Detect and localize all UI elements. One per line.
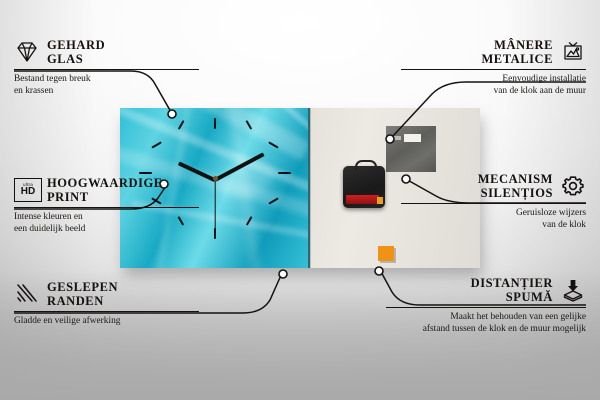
feature-rule <box>401 203 586 204</box>
hanger-plate <box>386 126 436 172</box>
hanger-slot <box>404 134 421 142</box>
feature-subtitle: Eenvoudige installatie van de klok aan d… <box>401 73 586 97</box>
feature-subtitle-line2: en krassen <box>14 86 53 96</box>
feature-subtitle-line1: Intense kleuren en <box>14 212 83 222</box>
feature-subtitle-line2: een duidelijk beeld <box>14 224 85 234</box>
feature-header: ultra HD HOOGWAARDIGE PRINT <box>14 176 199 204</box>
feature-subtitle: Bestand tegen breuk en krassen <box>14 73 199 97</box>
clock-mechanism <box>343 166 385 208</box>
feature-title-line1: DISTANȚIER <box>471 276 553 290</box>
diamond-icon <box>14 40 40 64</box>
feature-subtitle: Maakt het behouden van een gelijke afsta… <box>386 311 586 335</box>
feature-subtitle-line1: Geruisloze wijzers <box>516 208 586 218</box>
battery <box>346 195 379 204</box>
ultra-hd-icon-large-text: HD <box>21 187 35 197</box>
bevelled-edges-icon <box>14 282 40 306</box>
clock-tick <box>139 172 152 174</box>
feature-header: MECANISM SILENȚIOS <box>401 172 586 200</box>
feature-subtitle-line1: Gladde en veilige afwerking <box>14 316 120 326</box>
feature-subtitle: Geruisloze wijzers van de klok <box>401 207 586 231</box>
feature-header: GESLEPEN RANDEN <box>14 280 199 308</box>
feature-title-line2: SPUMĂ <box>506 290 553 304</box>
hanger-slot-secondary <box>392 136 401 140</box>
feature-rule <box>14 207 199 208</box>
feature-subtitle-line2: van de klok aan de muur <box>494 86 586 96</box>
feature-title-line1: MÂNERE <box>494 38 553 52</box>
feature-title-line2: GLAS <box>47 52 83 66</box>
feature-subtitle: Intense kleuren en een duidelijk beeld <box>14 211 199 235</box>
feature-title-line2: SILENȚIOS <box>481 186 553 200</box>
feature-title: MÂNERE METALICE <box>481 38 553 66</box>
feature-title: DISTANȚIER SPUMĂ <box>471 276 553 304</box>
feature-title-line1: GESLEPEN <box>47 280 118 294</box>
feature-title-line1: GEHARD <box>47 38 105 52</box>
clock-tick <box>151 141 161 148</box>
framed-picture-icon <box>560 40 586 64</box>
feature-title-line1: HOOGWAARDIGE <box>47 176 163 190</box>
feature-subtitle-line2: van de klok <box>542 220 586 230</box>
feature-rule <box>14 311 199 312</box>
feature-subtitle: Gladde en veilige afwerking <box>14 315 199 327</box>
feature-title: MECANISM SILENȚIOS <box>478 172 553 200</box>
feature-rule <box>386 307 586 308</box>
feature-subtitle-line1: Maakt het behouden van een gelijke <box>450 312 586 322</box>
feature-title: GESLEPEN RANDEN <box>47 280 118 308</box>
second-hand <box>214 179 215 231</box>
feature-title-line1: MECANISM <box>478 172 553 186</box>
feature-gehard-glas: GEHARD GLAS Bestand tegen breuk en krass… <box>14 38 199 97</box>
feature-header: MÂNERE METALICE <box>401 38 586 66</box>
gear-icon <box>560 174 586 198</box>
feature-title-line2: METALICE <box>481 52 553 66</box>
feature-rule <box>14 69 199 70</box>
feature-distantier-spuma: DISTANȚIER SPUMĂ Maakt het behouden van … <box>386 276 586 335</box>
mechanism-hook <box>355 160 377 171</box>
feature-header: DISTANȚIER SPUMĂ <box>386 276 586 304</box>
feature-geslepen-randen: GESLEPEN RANDEN Gladde en veilige afwerk… <box>14 280 199 327</box>
feature-title: GEHARD GLAS <box>47 38 105 66</box>
feature-hoogwaardige-print: ultra HD HOOGWAARDIGE PRINT Intense kleu… <box>14 176 199 235</box>
spacer-press-icon <box>560 278 586 302</box>
feature-subtitle-line1: Bestand tegen breuk <box>14 74 91 84</box>
feature-mecanism-silentios: MECANISM SILENȚIOS Geruisloze wijzers va… <box>401 172 586 231</box>
feature-header: GEHARD GLAS <box>14 38 199 66</box>
feature-manere-metalice: MÂNERE METALICE Eenvoudige installatie v… <box>401 38 586 97</box>
foam-spacer <box>378 246 394 261</box>
feature-title-line2: PRINT <box>47 190 89 204</box>
feature-title-line2: RANDEN <box>47 294 104 308</box>
feature-subtitle-line1: Eenvoudige installatie <box>502 74 586 84</box>
feature-title: HOOGWAARDIGE PRINT <box>47 176 163 204</box>
clock-hub <box>213 176 218 181</box>
feature-rule <box>401 69 586 70</box>
feature-subtitle-line2: afstand tussen de klok en de muur mogeli… <box>423 324 586 334</box>
ultra-hd-icon: ultra HD <box>14 178 40 202</box>
battery-terminal <box>377 197 383 204</box>
clock-tick <box>214 118 216 129</box>
